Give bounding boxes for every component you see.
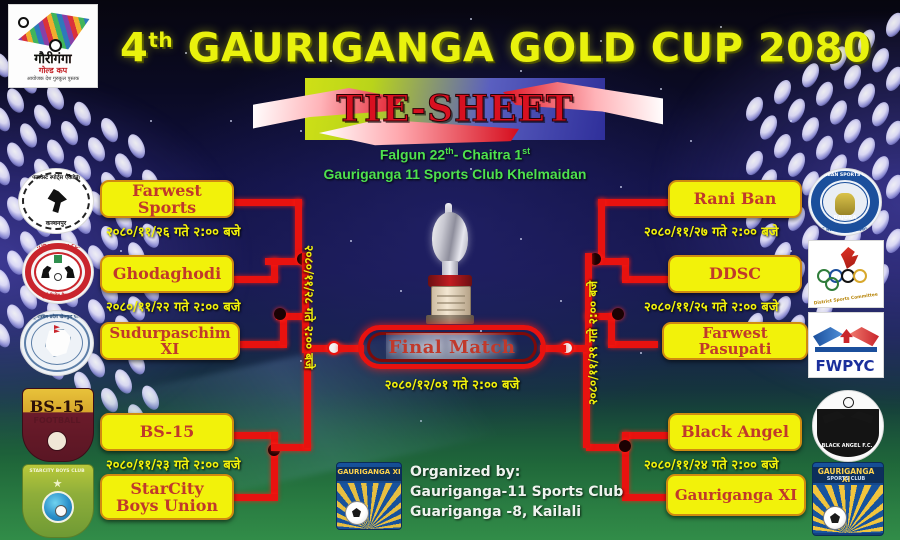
organizer-logo-title: GAURIGANGA XI [337,467,401,481]
bracket-line-r1 [598,199,668,206]
team-logo-gauriganga-xi: GAURIGANGA XI SPORTS CLUB [812,462,884,536]
final-match-badge: Final Match [358,325,546,369]
bracket-line-l11 [271,432,278,494]
team-logo-text-top: BLACK ANGEL F.C. [816,444,878,449]
final-match-label: Final Match [358,325,546,369]
organizer-logo: GAURIGANGA XI [336,462,402,530]
team-logo-sudurpaschim-xi: सुदूरपश्चिम प्रदेश खेलकुद परिषद [20,310,94,376]
trophy-cup [432,212,468,264]
team-logo-text-top: BS-15 [25,399,89,415]
team-logo-text-top: GHODAGHODI CLUB [27,245,89,250]
team-logo-bs-15: BS-15 FOOTBALL [22,388,94,462]
team-box-starcity-boys-union[interactable]: StarCity Boys Union [100,474,234,520]
team-logo-starcity-boys-union: STARCITY BOYS CLUB [22,464,94,538]
organizer-address: Guariganga -8, Kailali [410,503,680,523]
bracket-node-l2 [274,308,286,320]
team-logo-text-top: फारवेस्ट स्पोर्ट्स एकेडेमी [24,176,88,182]
tie-sheet-label: TIE-SHEET [305,78,605,140]
team-name-line-1: StarCity [130,480,203,497]
bracket-node-r3 [619,440,631,452]
title-main: GAURIGANGA GOLD CUP 2080 [173,25,871,71]
team-box-farwest-sports[interactable]: Farwest Sports [100,180,234,218]
team-logo-rani-ban: RANIBAN SPORTS CLUB BAJURA THE HIMALYAN … [808,168,882,236]
team-logo-ddsc: District Sports Committee [808,240,884,308]
bracket-node-r2 [612,308,624,320]
semifinal-left-date: २०८०/११/२८ गते २:०० बजे [301,245,318,369]
football-icon [345,501,369,525]
team-logo-text-top: FWPYC [811,359,879,374]
tournament-logo-name: गौरीगंगा [13,53,93,66]
match-date-left-2: २०८०/११/२२ गते २:०० बजे [106,297,240,315]
team-box-bs-15[interactable]: BS-15 [100,413,234,451]
team-box-ghodaghodi[interactable]: Ghodaghodi [100,255,234,293]
team-box-gauriganga-xi[interactable]: Gauriganga XI [666,474,806,516]
team-box-black-angel[interactable]: Black Angel [668,413,802,451]
bracket-line-l12 [232,494,278,501]
team-logo-text-mid: BAJURA [814,216,876,221]
team-logo-text-top: District Sports Committee [813,293,879,307]
match-date-left-3: २०८०/११/२३ गते २:०० बजे [106,455,240,473]
semifinal-right-date: २०८०/११/२९ गते २:०० बजे [584,281,601,405]
team-logo-fwpyc: FWPYC [808,312,884,378]
team-name-line-2: Boys Union [116,497,218,514]
poster-canvas: गौरीगंगा गोल्ड कप आयोजक देश गुरुकुल पुस्… [0,0,900,540]
title-prefix: 4 [120,25,148,71]
organizer-club: Gauriganga-11 Sports Club [410,483,680,503]
team-logo-ghodaghodi: GHODAGHODI CLUB सुखेतीमोड कैलाली [22,240,94,304]
bracket-line-r2 [598,199,605,261]
match-date-right-2: २०८०/११/२५ गते २:०० बजे [644,297,778,315]
team-logo-text-top: सुदूरपश्चिम प्रदेश खेलकुद परिषद [27,316,87,321]
team-logo-farwest-sports: फारवेस्ट स्पोर्ट्स एकेडेमी कञ्चनपुर [18,168,94,234]
date-from: Falgun 22 [380,147,445,163]
organizer-block: Organized by: Gauriganga-11 Sports Club … [410,463,680,523]
team-logo-text-bottom: FOOTBALL [25,417,89,425]
team-box-farwest-pasupati[interactable]: Farwest Pasupati [662,322,808,360]
trophy-icon [418,212,482,330]
bracket-line-l1 [232,199,302,206]
event-venue: Gauriganga 11 Sports Club Khelmaidan [275,166,635,182]
team-logo-text-top: STARCITY BOYS CLUB [25,470,89,475]
date-to-ordinal: st [522,146,530,156]
team-logo-text-bottom: सुखेतीमोड कैलाली [27,294,89,299]
trophy-foot [426,315,474,324]
team-logo-text-bottom: THE HIMALYAN DIAMOND [812,228,878,232]
match-date-right-1: २०८०/११/२७ गते २:०० बजे [644,222,778,240]
tournament-logo-sub: गोल्ड कप [13,67,93,75]
date-from-ordinal: th [445,146,454,156]
organizer-heading: Organized by: [410,463,680,483]
page-title: 4th GAURIGANGA GOLD CUP 2080 [120,14,780,66]
tournament-logo: गौरीगंगा गोल्ड कप आयोजक देश गुरुकुल पुस्… [8,4,98,88]
trophy-plinth [431,286,471,318]
team-box-ddsc[interactable]: DDSC [668,255,802,293]
match-date-left-1: २०८०/११/२६ गते २:०० बजे [106,222,240,240]
final-match-date: २०८०/१२/०१ गते २:०० बजे [340,375,564,393]
tournament-logo-tag: आयोजक देश गुरुकुल पुस्तक [11,77,95,82]
date-to: - Chaitra 1 [454,147,522,163]
team-logo-black-angel: BLACK ANGEL F.C. [812,390,884,462]
team-box-sudurpaschim-xi[interactable]: Sudurpaschim XI [100,322,240,360]
team-logo-text-sub: SPORTS CLUB [814,477,878,482]
bracket-line-r6 [608,341,658,348]
title-ordinal: th [148,28,173,52]
event-date-range: Falgun 22th- Chaitra 1st [285,146,625,163]
team-logo-text-bottom: कञ्चनपुर [24,221,88,227]
team-logo-text-top: RANIBAN SPORTS CLUB [814,174,876,179]
team-box-rani-ban[interactable]: Rani Ban [668,180,802,218]
tie-sheet-banner: TIE-SHEET [305,78,605,140]
